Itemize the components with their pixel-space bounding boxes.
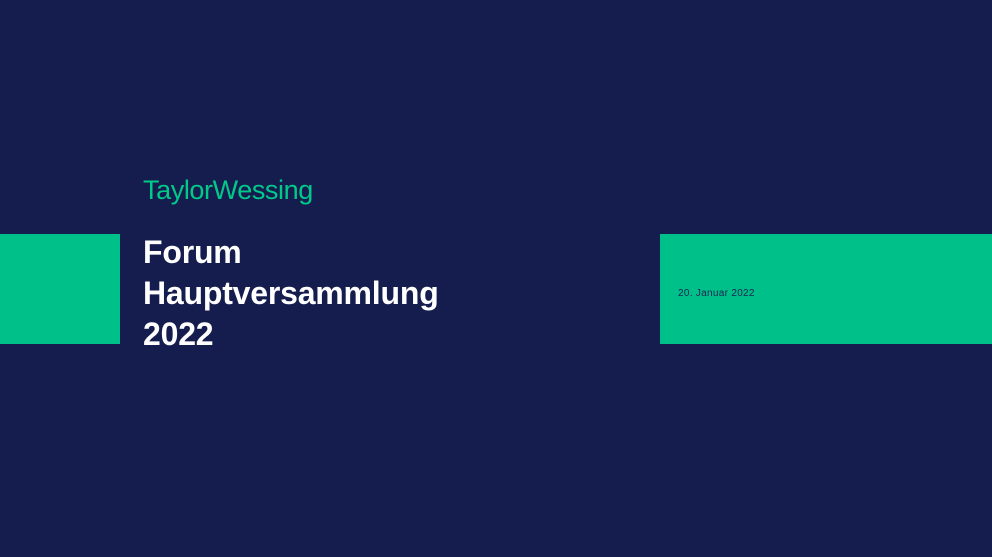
title-line-1: Forum bbox=[143, 232, 643, 273]
accent-bar-left bbox=[0, 234, 120, 344]
brand-logo: TaylorWessing bbox=[143, 175, 313, 205]
title-line-3: 2022 bbox=[143, 314, 643, 355]
title-slide: TaylorWessing Forum Hauptversammlung 202… bbox=[0, 0, 992, 557]
title-line-2: Hauptversammlung bbox=[143, 273, 643, 314]
page-title: Forum Hauptversammlung 2022 bbox=[143, 232, 643, 355]
event-date-label: 20. Januar 2022 bbox=[678, 287, 755, 300]
